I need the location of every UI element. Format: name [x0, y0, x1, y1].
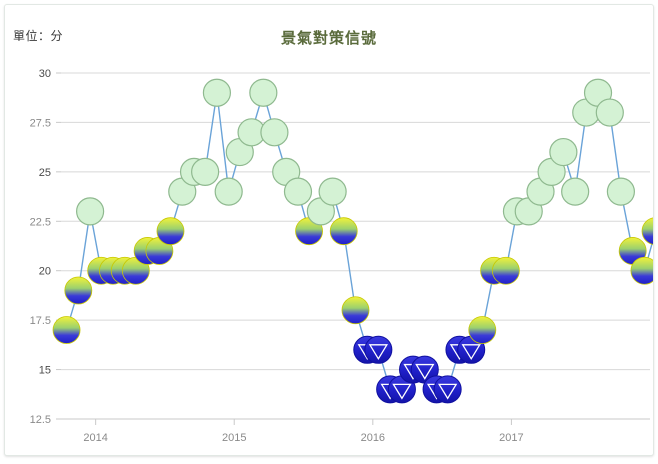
- data-point-yellow_blue[interactable]: [53, 317, 80, 344]
- x-tick-label: 2015: [222, 432, 246, 444]
- y-tick-label: 15: [39, 365, 51, 377]
- data-point-green[interactable]: [192, 158, 219, 185]
- data-point-green[interactable]: [562, 178, 589, 205]
- data-point-yellow_blue[interactable]: [492, 257, 519, 284]
- data-point-yellow_blue[interactable]: [469, 317, 496, 344]
- chart-plot-area: 12.51517.52022.52527.530 201420152016201…: [5, 5, 654, 456]
- x-tick-label: 2014: [83, 432, 107, 444]
- data-point-yellow_blue[interactable]: [330, 218, 357, 245]
- y-tick-label: 20: [39, 266, 51, 278]
- x-axis: 2014201520162017: [61, 419, 650, 444]
- data-point-blue[interactable]: [434, 376, 461, 403]
- data-point-green[interactable]: [284, 178, 311, 205]
- data-point-green[interactable]: [596, 99, 623, 126]
- data-point-blue[interactable]: [365, 336, 392, 363]
- chart-card: 單位：分 景氣對策信號 12.51517.52022.52527.530 201…: [4, 4, 654, 456]
- data-point-yellow_blue[interactable]: [631, 257, 654, 284]
- x-tick-label: 2017: [499, 432, 523, 444]
- y-axis-tick-labels: 12.51517.52022.52527.530: [30, 68, 51, 426]
- data-point-green[interactable]: [215, 178, 242, 205]
- data-point-yellow_blue[interactable]: [342, 297, 369, 324]
- data-point-yellow_blue[interactable]: [157, 218, 184, 245]
- y-tick-label: 25: [39, 167, 51, 179]
- data-point-green[interactable]: [261, 119, 288, 146]
- y-tick-label: 30: [39, 68, 51, 80]
- data-point-green[interactable]: [250, 79, 277, 106]
- x-tick-label: 2016: [361, 432, 385, 444]
- data-point-green[interactable]: [77, 198, 104, 225]
- y-tick-label: 27.5: [30, 117, 51, 129]
- y-tick-label: 17.5: [30, 315, 51, 327]
- data-point-green[interactable]: [203, 79, 230, 106]
- series-markers[interactable]: [53, 79, 654, 403]
- y-tick-label: 22.5: [30, 216, 51, 228]
- y-tick-label: 12.5: [30, 414, 51, 426]
- data-point-green[interactable]: [550, 139, 577, 166]
- data-point-green[interactable]: [319, 178, 346, 205]
- data-point-yellow_blue[interactable]: [65, 277, 92, 304]
- data-point-green[interactable]: [607, 178, 634, 205]
